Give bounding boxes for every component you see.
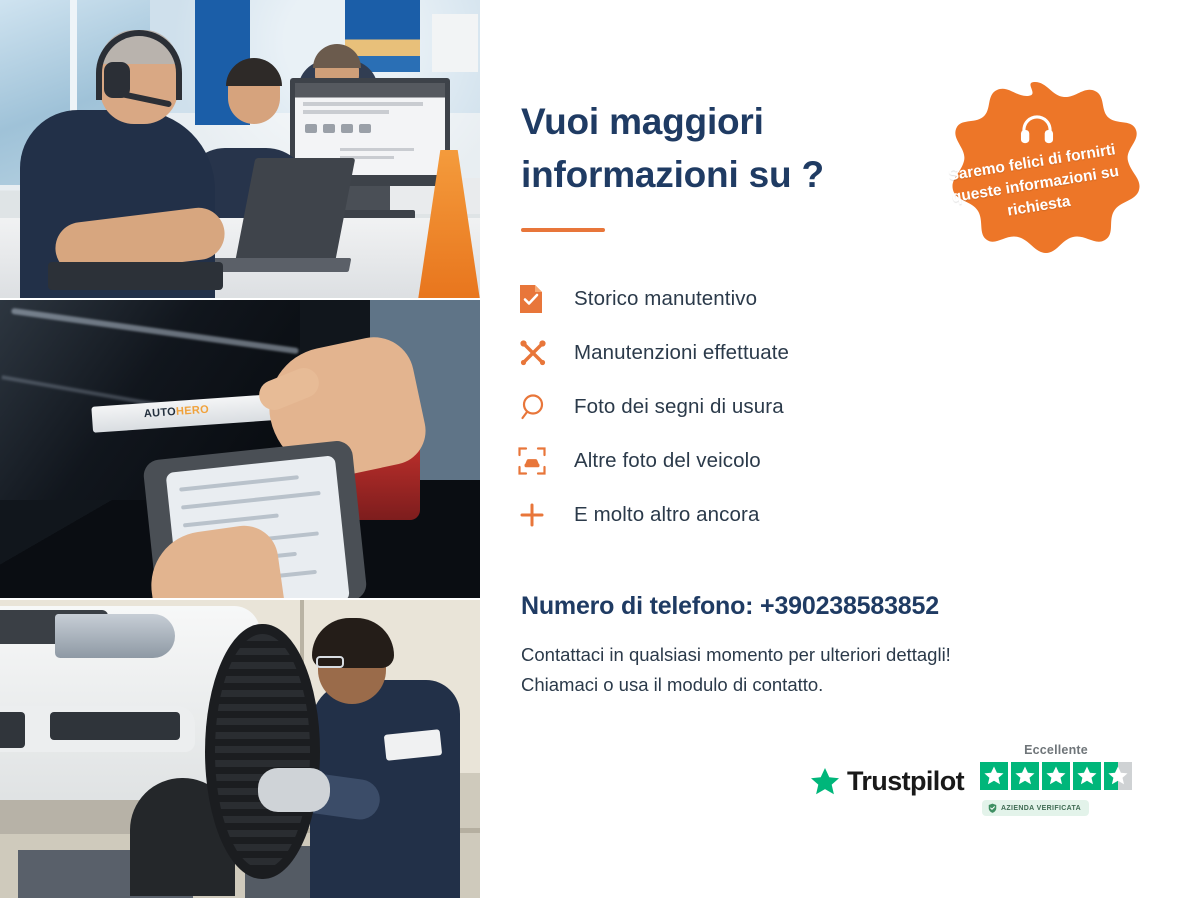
feature-list: Storico manutentivo Manutenzi	[518, 272, 948, 542]
feature-item-altro: E molto altro ancora	[518, 488, 948, 542]
screen-thumb	[359, 124, 371, 133]
contact-copy: Contattaci in qualsiasi momento per ulte…	[521, 640, 1141, 700]
feature-item-storico: Storico manutentivo	[518, 272, 948, 326]
trustpilot-wordmark: Trustpilot	[847, 766, 964, 797]
monitor-stand	[345, 186, 390, 212]
plus-icon	[518, 501, 574, 529]
vehicle-inspection-ruler-photo: AUTOHERO	[0, 300, 480, 598]
car-scan-icon	[518, 447, 574, 475]
feature-item-foto-veicolo: Altre foto del veicolo	[518, 434, 948, 488]
ruler-brand-hero: HERO	[176, 404, 210, 418]
feature-label: E molto altro ancora	[574, 503, 759, 527]
screen-thumb	[305, 124, 317, 133]
verified-label: AZIENDA VERIFICATA	[1001, 805, 1081, 812]
title-underline	[521, 228, 605, 232]
mechanic-wheel-lift-photo	[0, 600, 480, 898]
tablet-line	[179, 475, 299, 492]
rating-stars	[980, 762, 1132, 790]
phone-number[interactable]: Numero di telefono: +390238583852	[521, 592, 939, 621]
page-title: Vuoi maggiori informazioni su ?	[521, 96, 941, 201]
star-filled	[1042, 762, 1070, 790]
ruler-brand-auto: AUTO	[144, 406, 177, 420]
feature-item-usura: Foto dei segni di usura	[518, 380, 948, 434]
trustpilot-widget[interactable]: Trustpilot Eccellente	[810, 738, 1140, 848]
verified-badge: AZIENDA VERIFICATA	[982, 800, 1089, 816]
shield-check-icon	[988, 803, 997, 813]
info-panel: Vuoi maggiori informazioni su ? Saremo f…	[480, 0, 1200, 900]
magnifier-icon	[518, 392, 574, 422]
laptop-screen	[235, 158, 356, 264]
star-filled	[980, 762, 1008, 790]
headlight	[55, 614, 175, 658]
tablet-line	[183, 513, 279, 527]
star-filled	[1011, 762, 1039, 790]
work-glove	[258, 768, 330, 812]
screen-thumb	[341, 124, 353, 133]
rating-label: Eccellente	[980, 743, 1132, 757]
tools-cross-icon	[518, 338, 574, 368]
tablet-line	[181, 491, 321, 510]
feature-item-manutenzioni: Manutenzioni effettuate	[518, 326, 948, 380]
desk-tablet	[48, 262, 223, 290]
screen-row	[303, 110, 389, 114]
on-request-badge: Saremo felici di fornirti queste informa…	[930, 78, 1140, 296]
call-center-agents-photo	[0, 0, 480, 298]
trustpilot-logo: Trustpilot	[810, 766, 964, 797]
contact-line-1: Contattaci in qualsiasi momento per ulte…	[521, 640, 1141, 670]
promo-banner: AUTOHERO	[0, 0, 1200, 900]
bumper-vent	[50, 712, 180, 740]
feature-label: Storico manutentivo	[574, 287, 757, 311]
contact-line-2: Chiamaci o usa il modulo di contatto.	[521, 670, 1141, 700]
wall-sheet	[432, 14, 478, 72]
document-check-icon	[518, 284, 574, 314]
safety-glasses	[316, 656, 344, 668]
photo-collage: AUTOHERO	[0, 0, 480, 900]
star-half	[1104, 762, 1132, 790]
star-filled	[1073, 762, 1101, 790]
feature-label: Manutenzioni effettuate	[574, 341, 789, 365]
bumper-vent	[0, 712, 25, 748]
feature-label: Foto dei segni di usura	[574, 395, 784, 419]
tire-tread	[215, 634, 310, 869]
screen-row	[303, 102, 423, 106]
trustpilot-star-icon	[810, 767, 840, 796]
feature-label: Altre foto del veicolo	[574, 449, 761, 473]
screen-row	[340, 148, 414, 151]
screen-thumb	[323, 124, 335, 133]
headset-icon	[1018, 112, 1056, 148]
